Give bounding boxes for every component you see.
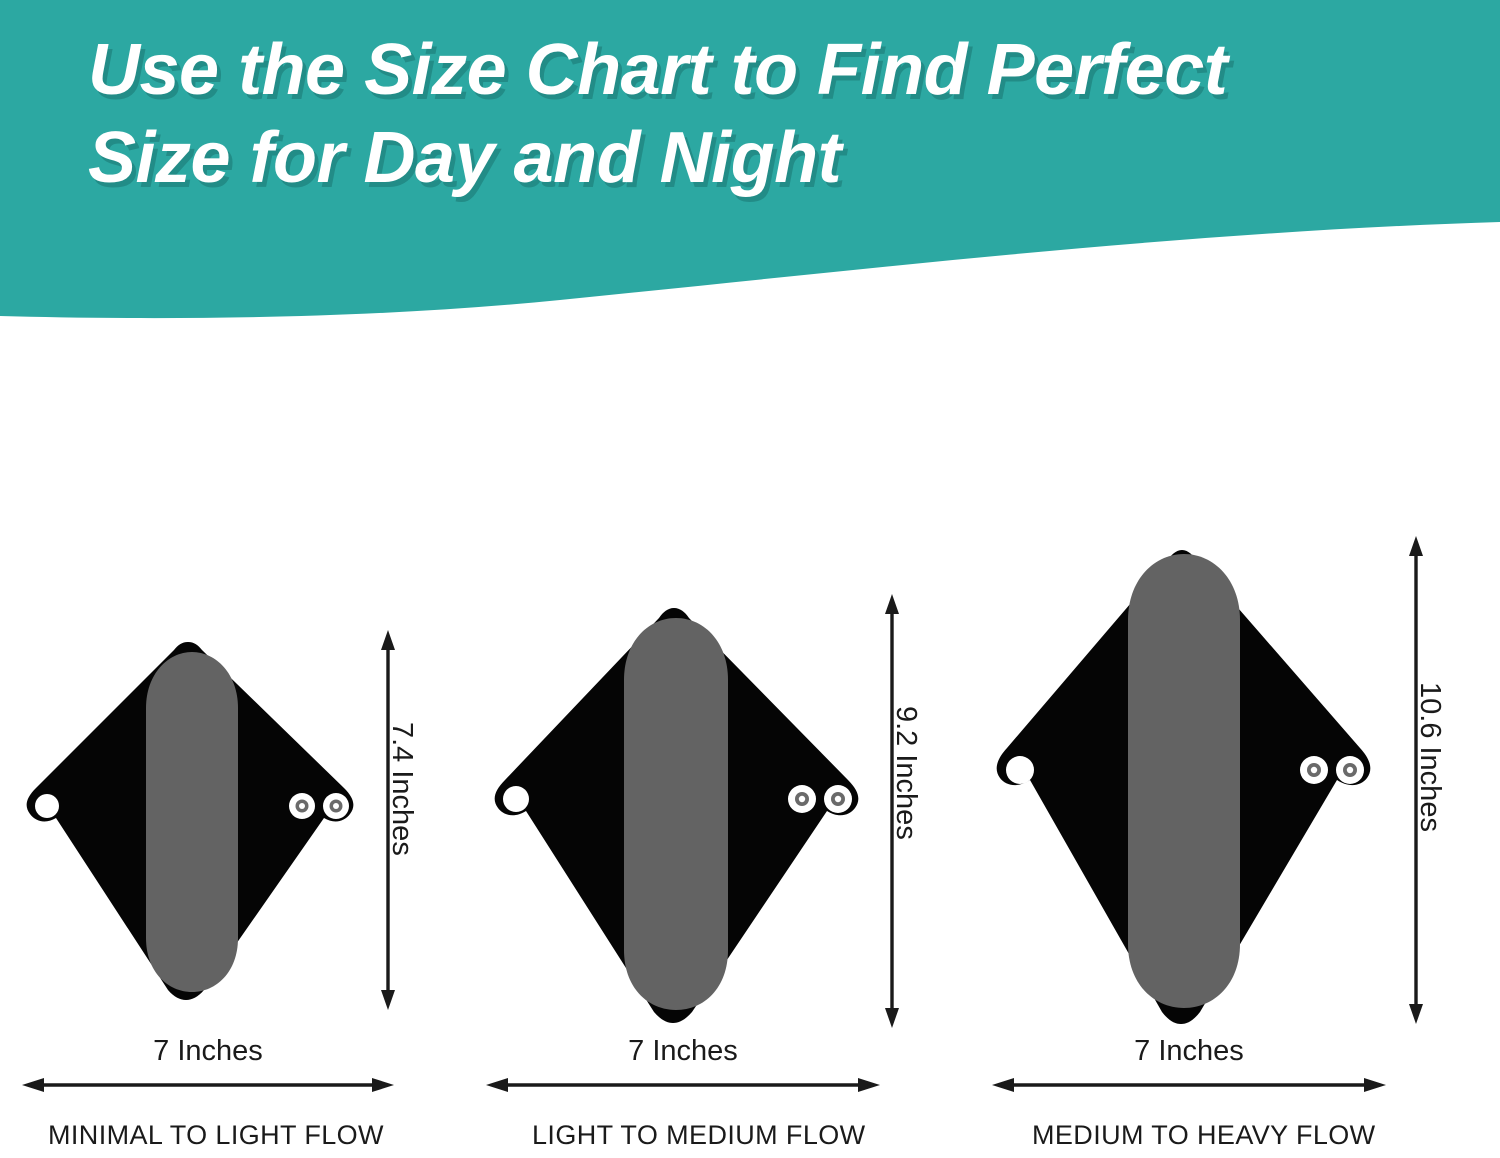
width-label-minimal-to-light: 7 Inches (25, 1035, 391, 1068)
snap-hole-left (503, 786, 529, 812)
snap-hole-left (35, 794, 59, 818)
pad-figure-medium-to-heavy: 10.6 Inches 7 Inches MEDIUM TO HEAVY FLO… (970, 330, 1500, 1158)
width-dimension-arrow-medium-to-heavy (992, 1072, 1386, 1098)
page-title-line-1: Use the Size Chart to Find Perfect (88, 26, 1448, 114)
pad-illustration-medium-to-heavy (984, 534, 1384, 1032)
page-title: Use the Size Chart to Find Perfect Size … (88, 26, 1448, 202)
size-chart-figures: 7.4 Inches 7 Inches MINIMAL TO LIGHT FLO… (0, 330, 1500, 1158)
snap-hole-left (1006, 756, 1034, 784)
flow-label-medium-to-heavy: MEDIUM TO HEAVY FLOW (1032, 1120, 1376, 1151)
pad-figure-light-to-medium: 9.2 Inches 7 Inches LIGHT TO MEDIUM FLOW (470, 330, 970, 1158)
width-dimension-arrow-minimal-to-light (22, 1072, 394, 1098)
width-label-medium-to-heavy: 7 Inches (996, 1035, 1382, 1068)
pad-illustration-minimal-to-light (18, 626, 366, 1012)
width-dimension-arrow-light-to-medium (486, 1072, 880, 1098)
header-banner: Use the Size Chart to Find Perfect Size … (0, 0, 1500, 330)
flow-label-light-to-medium: LIGHT TO MEDIUM FLOW (532, 1120, 866, 1151)
flow-label-minimal-to-light: MINIMAL TO LIGHT FLOW (48, 1120, 384, 1151)
page-title-line-2: Size for Day and Night (88, 114, 1448, 202)
pad-figure-minimal-to-light: 7.4 Inches 7 Inches MINIMAL TO LIGHT FLO… (0, 330, 470, 1158)
width-label-light-to-medium: 7 Inches (490, 1035, 876, 1068)
height-label-light-to-medium: 9.2 Inches (889, 706, 922, 840)
height-label-medium-to-heavy: 10.6 Inches (1413, 682, 1446, 832)
height-label-minimal-to-light: 7.4 Inches (385, 722, 418, 856)
pad-illustration-light-to-medium (482, 592, 872, 1032)
